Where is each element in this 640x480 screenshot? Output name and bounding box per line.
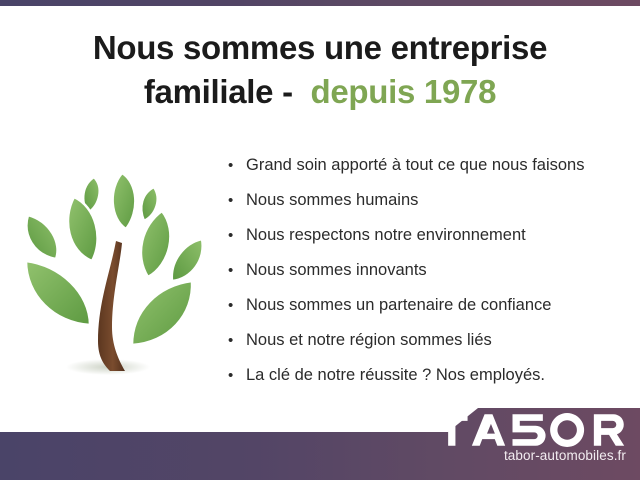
bullet-marker-icon: • xyxy=(228,148,246,183)
brand-logo[interactable]: tabor-automobiles.fr xyxy=(436,413,626,463)
tree-leaf xyxy=(113,173,136,229)
list-item: • Grand soin apporté à tout ce que nous … xyxy=(228,148,628,183)
brand-domain-label: tabor-automobiles.fr xyxy=(436,448,626,463)
bullet-marker-icon: • xyxy=(228,253,246,288)
list-item: • La clé de notre réussite ? Nos employé… xyxy=(228,358,628,393)
list-item: • Nous sommes un partenaire de confiance xyxy=(228,288,628,323)
list-item-label: Grand soin apporté à tout ce que nous fa… xyxy=(246,148,584,183)
tree-leaf xyxy=(132,281,192,345)
bullet-marker-icon: • xyxy=(228,218,246,253)
tabor-wordmark xyxy=(436,413,630,447)
list-item-label: La clé de notre réussite ? Nos employés. xyxy=(246,358,545,393)
title-line-2: familiale - depuis 1978 xyxy=(0,70,640,114)
list-item-label: Nous respectons notre environnement xyxy=(246,218,526,253)
value-bullet-list: • Grand soin apporté à tout ce que nous … xyxy=(228,148,628,393)
list-item-label: Nous et notre région sommes liés xyxy=(246,323,492,358)
title-line-2-black: familiale - xyxy=(144,73,311,110)
tree-trunk xyxy=(98,241,125,371)
list-item-label: Nous sommes humains xyxy=(246,183,418,218)
list-item: • Nous respectons notre environnement xyxy=(228,218,628,253)
list-item: • Nous sommes innovants xyxy=(228,253,628,288)
tree-leaf xyxy=(26,261,90,325)
list-item: • Nous sommes humains xyxy=(228,183,628,218)
tree-leaf xyxy=(172,239,203,281)
list-item: • Nous et notre région sommes liés xyxy=(228,323,628,358)
bullet-marker-icon: • xyxy=(228,358,246,393)
title-accent-year: depuis 1978 xyxy=(311,73,497,110)
tree-leaf xyxy=(26,215,57,259)
page-title: Nous sommes une entreprise familiale - d… xyxy=(0,26,640,114)
list-item-label: Nous sommes un partenaire de confiance xyxy=(246,288,551,323)
bullet-marker-icon: • xyxy=(228,288,246,323)
footer-bar: tabor-automobiles.fr xyxy=(0,400,640,480)
list-item-label: Nous sommes innovants xyxy=(246,253,427,288)
title-line-1: Nous sommes une entreprise xyxy=(0,26,640,70)
top-accent-strip xyxy=(0,0,640,6)
slide-canvas: Nous sommes une entreprise familiale - d… xyxy=(0,0,640,480)
bullet-marker-icon: • xyxy=(228,183,246,218)
tree-illustration xyxy=(12,145,217,390)
bullet-marker-icon: • xyxy=(228,323,246,358)
